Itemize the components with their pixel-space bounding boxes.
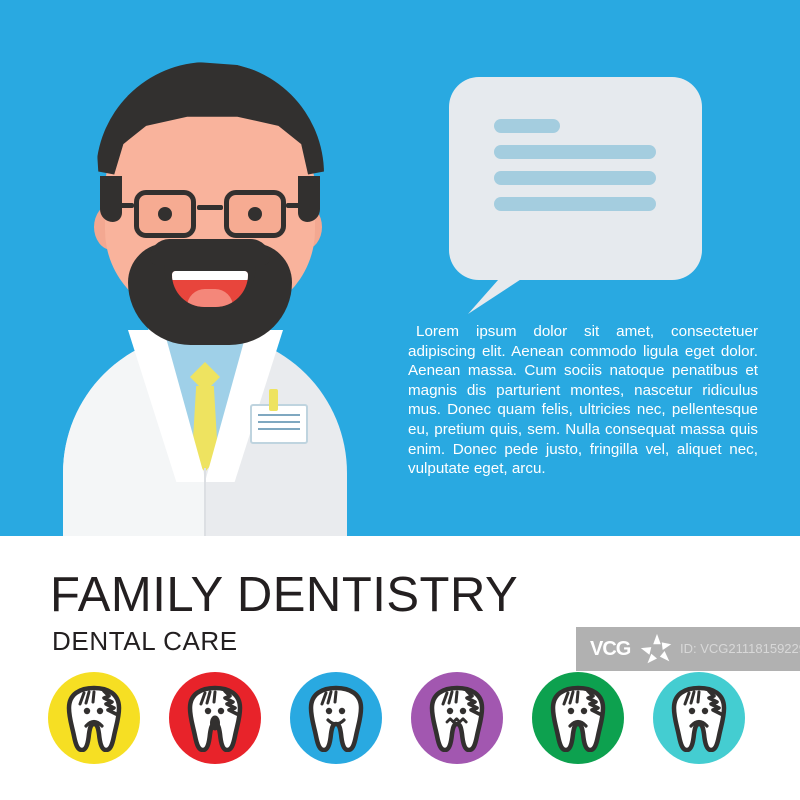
tooth-icon-tooth-shock-red[interactable] (169, 672, 261, 764)
tooth-icon-tooth-sad-yellow[interactable] (48, 672, 140, 764)
eye-left (158, 207, 172, 221)
sideburn-left (100, 176, 122, 222)
watermark-id: ID: VCG211181592296 (680, 641, 800, 656)
speech-bubble-line (494, 145, 656, 159)
tooth-icon-tooth-worry-purple[interactable] (411, 672, 503, 764)
tooth-icon (548, 684, 608, 752)
poster-canvas: Lorem ipsum dolor sit amet, consectetuer… (0, 0, 800, 800)
tooth-icon-tooth-sad-teal[interactable] (653, 672, 745, 764)
sideburn-right (298, 176, 320, 222)
speech-bubble-line (494, 197, 656, 211)
tooth-icon (306, 684, 366, 752)
watermark: VCG ID: VCG211181592296 (576, 627, 800, 671)
burst-icon (638, 631, 676, 669)
glasses-bridge (197, 205, 223, 210)
mustache (150, 239, 270, 265)
speech-bubble-line (494, 171, 656, 185)
mouth-interior (172, 271, 248, 307)
tooth-icon-tooth-sad-green[interactable] (532, 672, 624, 764)
tongue (187, 289, 233, 307)
page-title: FAMILY DENTISTRY (50, 567, 518, 623)
tooth-icon (64, 684, 124, 752)
speech-bubble-line (494, 119, 560, 133)
coat-seam (204, 468, 206, 536)
page-subtitle: DENTAL CARE (52, 626, 238, 657)
glasses-arm-left (110, 203, 134, 208)
badge-clip (269, 389, 278, 411)
hero-band: Lorem ipsum dolor sit amet, consectetuer… (0, 0, 800, 536)
upper-teeth (172, 271, 248, 280)
tooth-icon-row (0, 672, 800, 772)
badge-line (258, 414, 300, 416)
glasses-arm-right (286, 203, 310, 208)
badge-line (258, 428, 300, 430)
tooth-icon-tooth-happy-blue[interactable] (290, 672, 382, 764)
badge-line (258, 421, 300, 423)
vcg-logo: VCG (590, 638, 630, 661)
tooth-icon (669, 684, 729, 752)
id-badge (250, 404, 308, 444)
body-paragraph: Lorem ipsum dolor sit amet, consectetuer… (408, 322, 758, 479)
eye-right (248, 207, 262, 221)
dentist-illustration (0, 0, 410, 536)
tooth-icon (427, 684, 487, 752)
tooth-icon (185, 684, 245, 752)
